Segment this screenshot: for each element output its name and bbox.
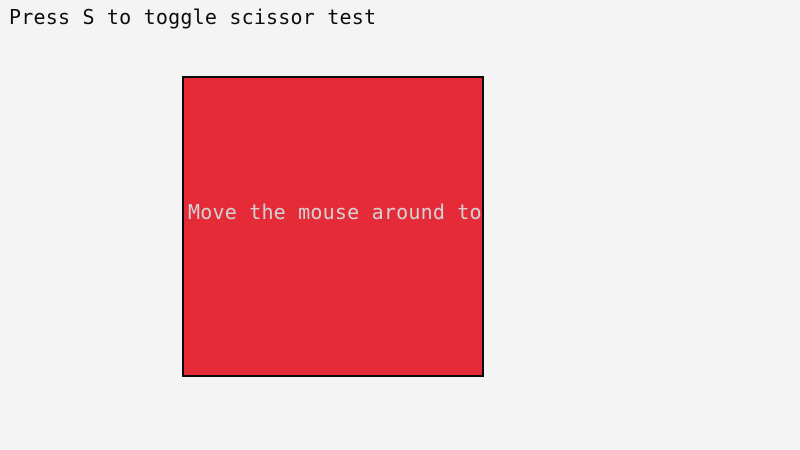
- scissor-rectangle[interactable]: Move the mouse around to r: [182, 76, 484, 377]
- scissor-test-canvas[interactable]: Press S to toggle scissor test Move the …: [0, 0, 800, 450]
- hint-label: Press S to toggle scissor test: [9, 5, 376, 29]
- scissor-clipped-text: Move the mouse around to r: [188, 200, 484, 224]
